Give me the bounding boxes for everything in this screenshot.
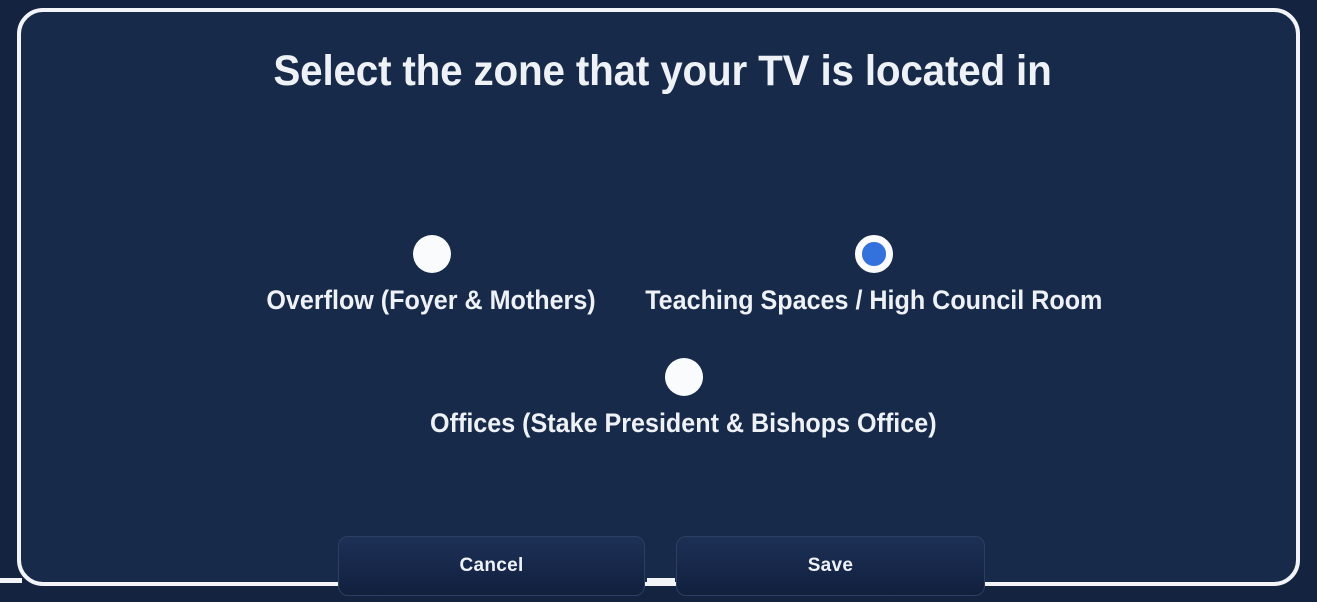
zone-option-label-overflow: Overflow (Foyer & Mothers) xyxy=(267,287,596,314)
page-title: Select the zone that your TV is located … xyxy=(59,50,1265,93)
radio-button-icon-overflow[interactable] xyxy=(413,235,451,273)
dialog-footer: Cancel Save xyxy=(0,536,1317,602)
cancel-button[interactable]: Cancel xyxy=(338,536,645,596)
save-button[interactable]: Save xyxy=(676,536,985,596)
zone-option-offices[interactable]: Offices (Stake President & Bishops Offic… xyxy=(361,358,1006,437)
zone-option-overflow[interactable]: Overflow (Foyer & Mothers) xyxy=(248,235,615,314)
zone-option-teaching-spaces[interactable]: Teaching Spaces / High Council Room xyxy=(621,235,1126,314)
zone-option-label-offices: Offices (Stake President & Bishops Offic… xyxy=(430,410,937,437)
app-screen: Select the zone that your TV is located … xyxy=(0,0,1317,602)
radio-button-icon-teaching-spaces[interactable] xyxy=(855,235,893,273)
radio-button-icon-offices[interactable] xyxy=(665,358,703,396)
zone-option-label-teaching-spaces: Teaching Spaces / High Council Room xyxy=(645,287,1102,314)
zone-radio-group: Overflow (Foyer & Mothers) Teaching Spac… xyxy=(21,217,1304,467)
zone-selection-dialog: Select the zone that your TV is located … xyxy=(17,8,1300,586)
radio-dot-icon xyxy=(862,242,886,266)
